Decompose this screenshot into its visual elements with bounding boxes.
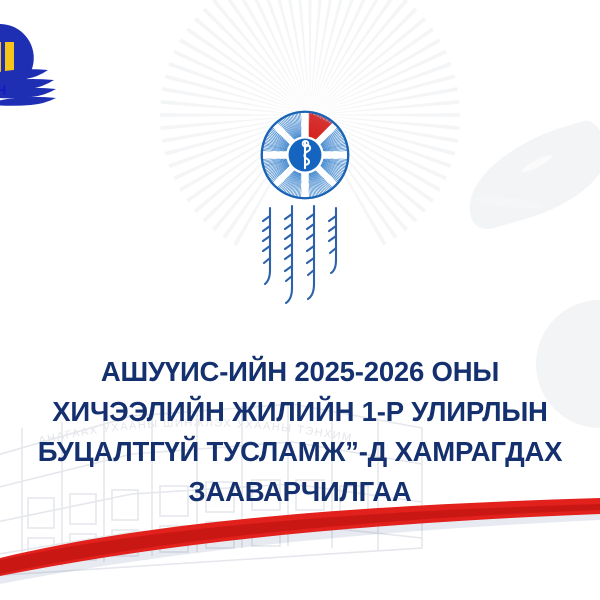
title-line-3: БУЦАЛТГҮЙ ТУСЛАМЖ”-Д ХАМРАГДАХ (0, 432, 600, 472)
leaf-watermark-shape (454, 117, 600, 233)
presentation-slide: РОЛЫН Н САН (0, 0, 600, 600)
corner-logo-line1: РОЛЫН (0, 83, 114, 98)
title-line-2: ХИЧЭЭЛИЙН ЖИЛИЙН 1-Р УЛИРЛЫН (0, 392, 600, 432)
corner-logo-line2: Н САН (0, 98, 114, 113)
title-line-4: ЗААВАРЧИЛГАА (0, 472, 600, 512)
corner-logo-text: РОЛЫН Н САН (0, 83, 114, 113)
mongolian-script-text (252, 200, 360, 310)
medical-emblem-icon (258, 108, 352, 202)
title-line-1: АШУҮИС-ИЙН 2025-2026 ОНЫ (0, 352, 600, 392)
page-title: АШУҮИС-ИЙН 2025-2026 ОНЫ ХИЧЭЭЛИЙН ЖИЛИЙ… (0, 352, 600, 512)
